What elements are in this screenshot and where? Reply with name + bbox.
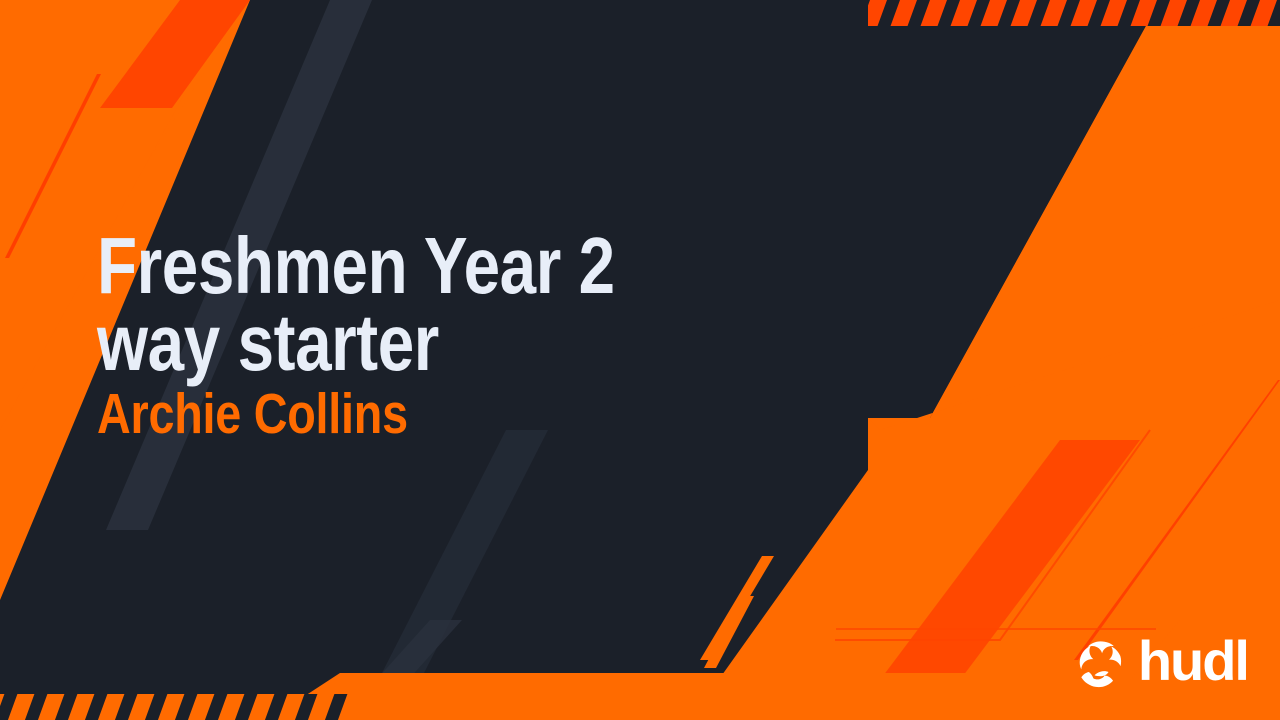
slide-headline: Freshmen Year 2 way starter — [97, 228, 737, 382]
hudl-logo: hudl — [1074, 636, 1248, 692]
hudl-wordmark: hudl — [1138, 633, 1248, 689]
bottom-hazard-stripe-band — [0, 694, 352, 720]
presentation-slide: Freshmen Year 2 way starter Archie Colli… — [0, 0, 1280, 720]
athlete-name: Archie Collins — [97, 386, 737, 443]
bottom-right-thin-line — [836, 628, 1156, 630]
top-hazard-stripe-band — [868, 0, 1280, 26]
hudl-logo-mark — [1074, 637, 1128, 691]
title-block: Freshmen Year 2 way starter Archie Colli… — [97, 228, 877, 443]
